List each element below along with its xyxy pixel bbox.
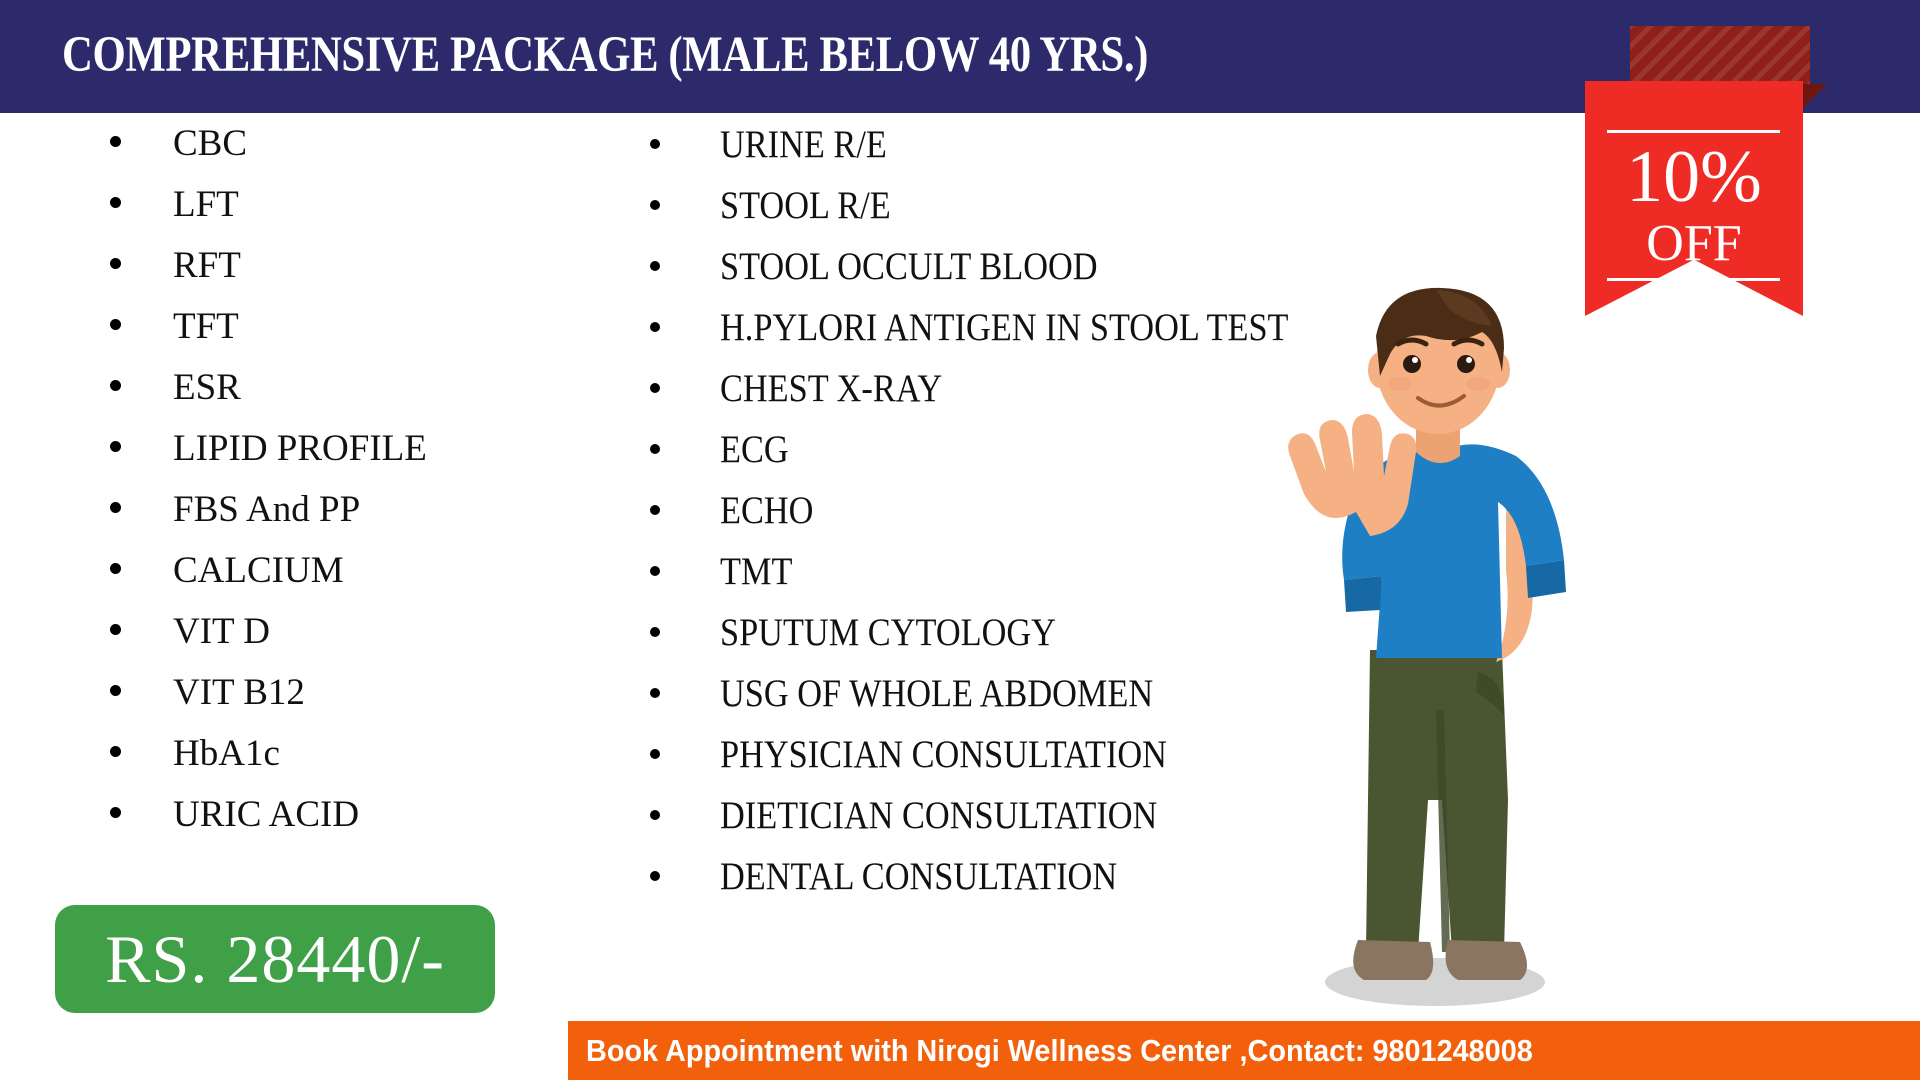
bullet-icon <box>650 749 660 759</box>
shoe-left <box>1353 940 1433 980</box>
price-amount: RS. 28440/- <box>105 920 445 999</box>
bullet-icon <box>110 441 121 452</box>
ribbon-striped-tab <box>1630 26 1810 88</box>
test-label: SPUTUM CYTOLOGY <box>720 610 1056 655</box>
bullet-icon <box>110 502 121 513</box>
price-badge: RS. 28440/- <box>55 905 495 1013</box>
list-item: URIC ACID <box>110 793 630 854</box>
test-label: ECHO <box>720 488 813 533</box>
test-list-left: CBC LFT RFT TFT ESR LIPID PROFILE FBS An… <box>110 122 630 854</box>
bullet-icon <box>650 871 660 881</box>
test-label: CBC <box>173 122 247 165</box>
test-label: RFT <box>173 244 241 287</box>
eye-right <box>1457 355 1475 373</box>
bullet-icon <box>110 380 121 391</box>
discount-off-label: OFF <box>1585 216 1803 272</box>
list-item: STOOL R/E <box>650 183 1410 244</box>
list-item: CALCIUM <box>110 549 630 610</box>
test-label: DENTAL CONSULTATION <box>720 854 1117 899</box>
bullet-icon <box>650 810 660 820</box>
test-label: H.PYLORI ANTIGEN IN STOOL TEST <box>720 305 1288 350</box>
test-label: LIPID PROFILE <box>173 427 427 470</box>
bullet-icon <box>110 624 121 635</box>
list-item: RFT <box>110 244 630 305</box>
bullet-icon <box>110 685 121 696</box>
bullet-icon <box>110 197 121 208</box>
test-label: ECG <box>720 427 789 472</box>
list-item: TFT <box>110 305 630 366</box>
bullet-icon <box>650 688 660 698</box>
booking-contact-text: Book Appointment with Nirogi Wellness Ce… <box>586 1033 1533 1069</box>
test-label: TMT <box>720 549 792 594</box>
waving-man-illustration <box>1220 280 1620 1020</box>
bullet-icon <box>650 200 660 210</box>
bullet-icon <box>650 444 660 454</box>
test-label: URIC ACID <box>173 793 359 836</box>
ribbon-fold-corner <box>1803 84 1827 108</box>
bullet-icon <box>110 746 121 757</box>
footer-bar: Book Appointment with Nirogi Wellness Ce… <box>568 1021 1920 1080</box>
ribbon-rule-bottom <box>1607 278 1780 281</box>
bullet-icon <box>110 136 121 147</box>
list-item: ESR <box>110 366 630 427</box>
ribbon-rule-top <box>1607 130 1780 133</box>
bullet-icon <box>650 627 660 637</box>
test-label: CALCIUM <box>173 549 344 592</box>
page-title: COMPREHENSIVE PACKAGE (MALE BELOW 40 YRS… <box>62 26 1148 84</box>
bullet-icon <box>650 322 660 332</box>
list-item: CBC <box>110 122 630 183</box>
bullet-icon <box>110 807 121 818</box>
list-item: VIT B12 <box>110 671 630 732</box>
bullet-icon <box>110 319 121 330</box>
bullet-icon <box>650 261 660 271</box>
list-item: LIPID PROFILE <box>110 427 630 488</box>
list-item: URINE R/E <box>650 122 1410 183</box>
eye-left <box>1403 355 1421 373</box>
test-label: URINE R/E <box>720 122 887 167</box>
list-item: VIT D <box>110 610 630 671</box>
test-label: USG OF WHOLE ABDOMEN <box>720 671 1153 716</box>
health-package-poster: COMPREHENSIVE PACKAGE (MALE BELOW 40 YRS… <box>0 0 1920 1080</box>
shoe-right <box>1446 940 1527 980</box>
test-label: VIT B12 <box>173 671 305 714</box>
discount-percent: 10% <box>1585 138 1803 216</box>
test-label: VIT D <box>173 610 270 653</box>
discount-ribbon: 10% OFF <box>1585 26 1835 316</box>
list-item: HbA1c <box>110 732 630 793</box>
test-label: STOOL R/E <box>720 183 891 228</box>
list-item: LFT <box>110 183 630 244</box>
test-label: PHYSICIAN CONSULTATION <box>720 732 1167 777</box>
test-label: CHEST X-RAY <box>720 366 942 411</box>
test-label: STOOL OCCULT BLOOD <box>720 244 1098 289</box>
bullet-icon <box>650 139 660 149</box>
test-label: LFT <box>173 183 239 226</box>
test-label: DIETICIAN CONSULTATION <box>720 793 1157 838</box>
list-item: FBS And PP <box>110 488 630 549</box>
test-label: FBS And PP <box>173 488 360 531</box>
test-label: ESR <box>173 366 241 409</box>
bullet-icon <box>110 258 121 269</box>
bullet-icon <box>650 505 660 515</box>
bullet-icon <box>110 563 121 574</box>
bullet-icon <box>650 566 660 576</box>
bullet-icon <box>650 383 660 393</box>
test-label: TFT <box>173 305 239 348</box>
test-label: HbA1c <box>173 732 280 775</box>
